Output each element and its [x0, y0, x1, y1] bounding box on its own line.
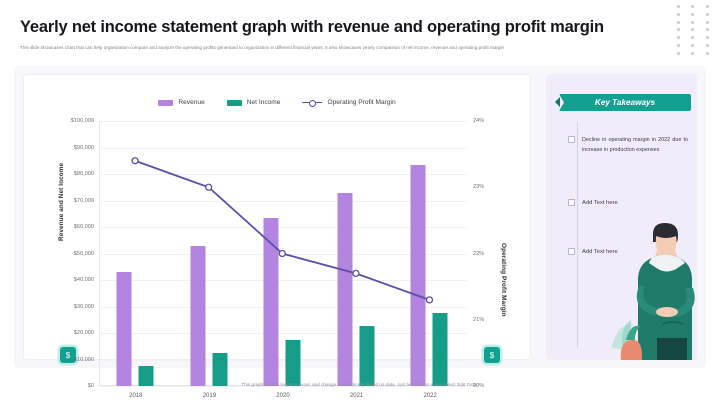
checkbox-icon[interactable] [568, 248, 575, 255]
y-axis-tick-label: $60,000 [74, 224, 94, 230]
checkbox-icon[interactable] [568, 199, 575, 206]
takeaway-text: Decline in operating margin in 2022 due … [582, 135, 688, 155]
key-takeaways-heading: Key Takeaways [559, 94, 691, 111]
revenue-swatch-icon [158, 100, 173, 106]
legend-label-revenue: Revenue [178, 99, 204, 106]
legend-item-net-income[interactable]: Net Income [227, 99, 281, 106]
y-axis-tick-label: $40,000 [74, 277, 94, 283]
margin-data-point[interactable] [426, 297, 432, 303]
list-item[interactable]: Add Text here [568, 198, 688, 209]
x-axis-tick-label: 2022 [423, 393, 436, 399]
x-axis-tick-label: 2021 [350, 393, 363, 399]
y2-axis-tick-label: 24% [473, 118, 484, 124]
content-card: Revenue Net Income Operating Profit Marg… [14, 66, 706, 368]
person-illustration [605, 220, 697, 360]
page-subtitle: This slide showcases chart that can help… [20, 44, 682, 52]
y-axis-tick-label: $70,000 [74, 198, 94, 204]
x-axis-tick-label: 2018 [129, 393, 142, 399]
checkbox-icon[interactable] [568, 136, 575, 143]
plot-area: $0$10,000$20,000$30,000$40,000$50,000$60… [99, 121, 467, 386]
slide-root: Yearly net income statement graph with r… [0, 0, 720, 404]
y-axis-tick-label: $20,000 [74, 330, 94, 336]
margin-line-path [135, 161, 429, 300]
footer-note: This graph/chart is linked to excel, and… [0, 382, 720, 387]
y2-axis-tick-label: 23% [473, 184, 484, 190]
margin-data-point[interactable] [353, 270, 359, 276]
x-axis-tick-label: 2020 [276, 393, 289, 399]
chart-legend: Revenue Net Income Operating Profit Marg… [24, 99, 530, 106]
list-item[interactable]: Decline in operating margin in 2022 due … [568, 135, 688, 155]
y2-axis-tick-label: 22% [473, 251, 484, 257]
percent-icon: $ [484, 347, 500, 363]
page-title: Yearly net income statement graph with r… [20, 18, 660, 37]
takeaways-timeline [577, 122, 578, 348]
margin-line-series [99, 121, 467, 386]
x-axis-tick-label: 2019 [203, 393, 216, 399]
takeaway-text: Add Text here [582, 198, 618, 209]
net-income-swatch-icon [227, 100, 242, 106]
y-axis-tick-label: $10,000 [74, 357, 94, 363]
y-axis-tick-label: $30,000 [74, 304, 94, 310]
y-axis-tick-label: $100,000 [71, 118, 94, 124]
y-axis-tick-label: $90,000 [74, 145, 94, 151]
legend-label-net-income: Net Income [247, 99, 281, 106]
key-takeaways-panel: Key Takeaways Decline in operating margi… [546, 74, 697, 360]
margin-line-marker-icon [302, 99, 322, 106]
legend-item-revenue[interactable]: Revenue [158, 99, 204, 106]
margin-data-point[interactable] [132, 158, 138, 164]
y-axis-left-title: Revenue and Net Income [58, 163, 65, 241]
y-axis-right-title: Operating Profit Margin [500, 243, 507, 317]
ribbon-tail-icon [555, 97, 560, 107]
y2-axis-tick-label: 21% [473, 317, 484, 323]
legend-item-operating-profit-margin[interactable]: Operating Profit Margin [302, 99, 395, 106]
legend-label-margin: Operating Profit Margin [327, 99, 395, 106]
margin-data-point[interactable] [206, 184, 212, 190]
margin-data-point[interactable] [279, 251, 285, 257]
y-axis-tick-label: $50,000 [74, 251, 94, 257]
chart-panel[interactable]: Revenue Net Income Operating Profit Marg… [23, 74, 531, 360]
y-axis-tick-label: $80,000 [74, 171, 94, 177]
